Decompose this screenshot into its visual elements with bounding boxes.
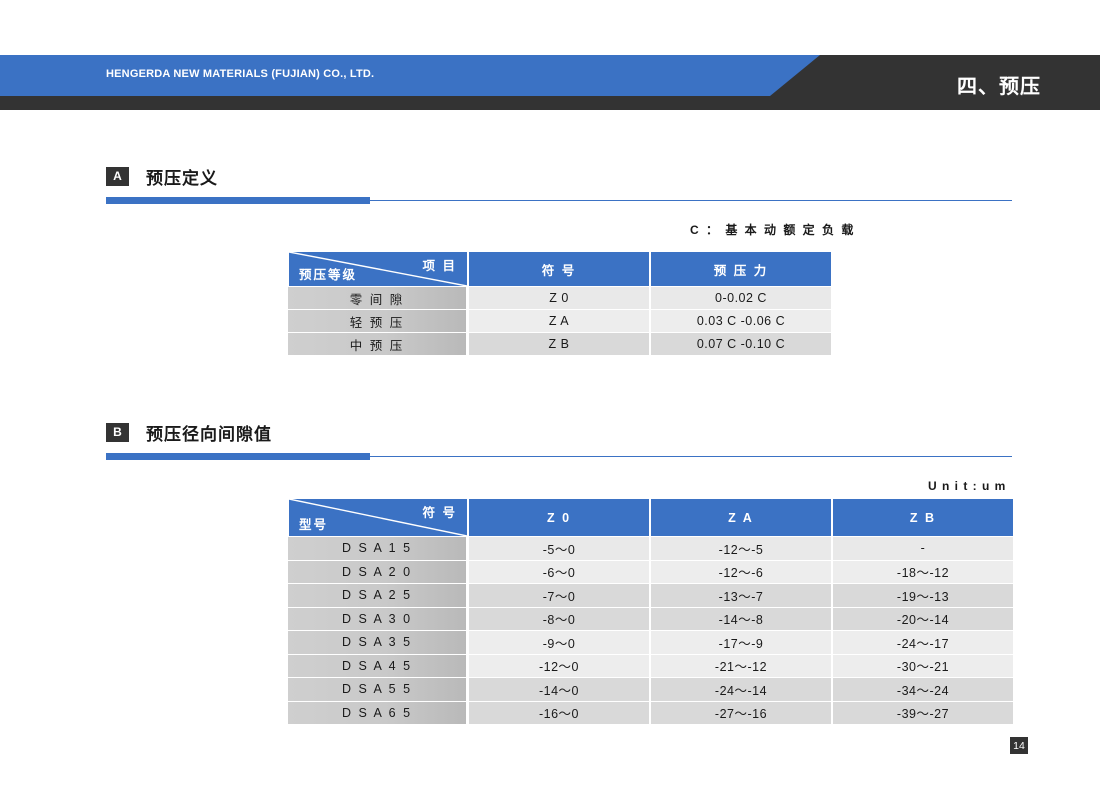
- section-b-badge: B: [106, 423, 129, 442]
- table-b-row1-col1: -12〜-6: [650, 561, 832, 584]
- table-b-col-za: Z A: [650, 499, 832, 536]
- table-b-row2-col1: -13〜-7: [650, 584, 832, 607]
- table-a-header-row: 项 目 预压等级 符 号 预 压 力: [288, 252, 832, 286]
- table-a-corner-cell: 项 目 预压等级: [288, 252, 468, 286]
- table-a-col-force: 预 压 力: [650, 252, 832, 286]
- slide-page: HENGERDA NEW MATERIALS (FUJIAN) CO., LTD…: [0, 0, 1100, 802]
- section-a-heading: A 预压定义: [106, 163, 1012, 189]
- table-row: D S A 2 5-7〜0-13〜-7-19〜-13: [288, 584, 1014, 607]
- table-b-row7-col1: -27〜-16: [650, 702, 832, 725]
- table-a-corner-top-label: 项 目: [423, 255, 457, 274]
- table-b-row1-col0: -6〜0: [468, 561, 650, 584]
- table-row: D S A 6 5-16〜0-27〜-16-39〜-27: [288, 702, 1014, 725]
- table-row: D S A 3 0-8〜0-14〜-8-20〜-14: [288, 608, 1014, 631]
- table-b-row2-label: D S A 2 5: [288, 584, 468, 607]
- table-b-row7-label: D S A 6 5: [288, 702, 468, 725]
- table-a-row1-label: 轻 预 压: [288, 310, 468, 332]
- table-b-row2-col0: -7〜0: [468, 584, 650, 607]
- table-b-row3-col0: -8〜0: [468, 608, 650, 631]
- table-b-row5-label: D S A 4 5: [288, 655, 468, 678]
- section-a-rule-thick: [106, 197, 370, 204]
- table-b-row3-label: D S A 3 0: [288, 608, 468, 631]
- table-a-row2-force: 0.07 C -0.10 C: [650, 333, 832, 355]
- table-row: D S A 5 5-14〜0-24〜-14-34〜-24: [288, 678, 1014, 701]
- table-b-col-z0: Z 0: [468, 499, 650, 536]
- table-b-body: D S A 1 5-5〜0-12〜-5-D S A 2 0-6〜0-12〜-6-…: [288, 537, 1014, 724]
- table-row: 轻 预 压 Z A 0.03 C -0.06 C: [288, 310, 832, 332]
- table-b-head: 符 号 型号 Z 0 Z A Z B: [288, 499, 1014, 536]
- table-a-row0-symbol: Z 0: [468, 287, 650, 309]
- table-b-row5-col1: -21〜-12: [650, 655, 832, 678]
- table-b-row0-col0: -5〜0: [468, 537, 650, 560]
- table-b-row4-col0: -9〜0: [468, 631, 650, 654]
- table-b-row6-col1: -24〜-14: [650, 678, 832, 701]
- table-a-row2-label: 中 预 压: [288, 333, 468, 355]
- table-row: D S A 4 5-12〜0-21〜-12-30〜-21: [288, 655, 1014, 678]
- table-b-row4-col1: -17〜-9: [650, 631, 832, 654]
- table-a-row1-force: 0.03 C -0.06 C: [650, 310, 832, 332]
- table-row: D S A 2 0-6〜0-12〜-6-18〜-12: [288, 561, 1014, 584]
- table-b-row0-col1: -12〜-5: [650, 537, 832, 560]
- table-b-caption: U n i t : u m: [928, 479, 1006, 493]
- section-a: A 预压定义: [106, 163, 1012, 205]
- page-header: HENGERDA NEW MATERIALS (FUJIAN) CO., LTD…: [0, 55, 1100, 110]
- table-b-row7-col2: -39〜-27: [832, 702, 1014, 725]
- table-row: 零 间 隙 Z 0 0-0.02 C: [288, 287, 832, 309]
- preload-radial-clearance-table: 符 号 型号 Z 0 Z A Z B D S A 1 5-5〜0-12〜-5-D…: [288, 498, 1014, 725]
- table-b-corner-top-label: 符 号: [423, 502, 457, 521]
- section-b-rule: [106, 453, 1012, 461]
- table-b-row3-col2: -20〜-14: [832, 608, 1014, 631]
- table-b-row4-col2: -24〜-17: [832, 631, 1014, 654]
- chapter-title: 四、预压: [957, 70, 1041, 99]
- table-b-corner-cell: 符 号 型号: [288, 499, 468, 536]
- table-b-row1-col2: -18〜-12: [832, 561, 1014, 584]
- table-b-header-row: 符 号 型号 Z 0 Z A Z B: [288, 499, 1014, 536]
- section-b-heading: B 预压径向间隙值: [106, 419, 1012, 445]
- company-name: HENGERDA NEW MATERIALS (FUJIAN) CO., LTD…: [106, 68, 374, 80]
- table-b-row6-label: D S A 5 5: [288, 678, 468, 701]
- table-row: 中 预 压 Z B 0.07 C -0.10 C: [288, 333, 832, 355]
- table-b-row6-col2: -34〜-24: [832, 678, 1014, 701]
- table-a-head: 项 目 预压等级 符 号 预 压 力: [288, 252, 832, 286]
- table-row: D S A 1 5-5〜0-12〜-5-: [288, 537, 1014, 560]
- table-a-body: 零 间 隙 Z 0 0-0.02 C 轻 预 压 Z A 0.03 C -0.0…: [288, 287, 832, 355]
- table-b-row0-label: D S A 1 5: [288, 537, 468, 560]
- section-a-badge: A: [106, 167, 129, 186]
- table-a-row0-force: 0-0.02 C: [650, 287, 832, 309]
- table-row: D S A 3 5-9〜0-17〜-9-24〜-17: [288, 631, 1014, 654]
- table-a-col-symbol: 符 号: [468, 252, 650, 286]
- section-b: B 预压径向间隙值: [106, 419, 1012, 461]
- table-a-row0-label: 零 间 隙: [288, 287, 468, 309]
- table-b-row0-col2: -: [832, 537, 1014, 560]
- table-a-corner-bottom-label: 预压等级: [299, 264, 357, 283]
- table-b-row6-col0: -14〜0: [468, 678, 650, 701]
- section-a-title: 预压定义: [146, 164, 218, 189]
- table-a-row2-symbol: Z B: [468, 333, 650, 355]
- table-b-row4-label: D S A 3 5: [288, 631, 468, 654]
- table-b-row2-col2: -19〜-13: [832, 584, 1014, 607]
- table-b-row7-col0: -16〜0: [468, 702, 650, 725]
- table-b-col-zb: Z B: [832, 499, 1014, 536]
- section-b-rule-thick: [106, 453, 370, 460]
- table-b-row5-col0: -12〜0: [468, 655, 650, 678]
- section-a-rule: [106, 197, 1012, 205]
- table-a-row1-symbol: Z A: [468, 310, 650, 332]
- preload-definition-table: 项 目 预压等级 符 号 预 压 力 零 间 隙 Z 0 0-0.02 C 轻 …: [288, 251, 832, 356]
- page-number-badge: 14: [1010, 737, 1028, 754]
- section-b-title: 预压径向间隙值: [146, 420, 272, 445]
- table-a-caption: C ： 基 本 动 额 定 负 载: [690, 221, 855, 238]
- table-b-row3-col1: -14〜-8: [650, 608, 832, 631]
- table-b-row5-col2: -30〜-21: [832, 655, 1014, 678]
- table-b-row1-label: D S A 2 0: [288, 561, 468, 584]
- table-b-corner-bottom-label: 型号: [299, 514, 328, 533]
